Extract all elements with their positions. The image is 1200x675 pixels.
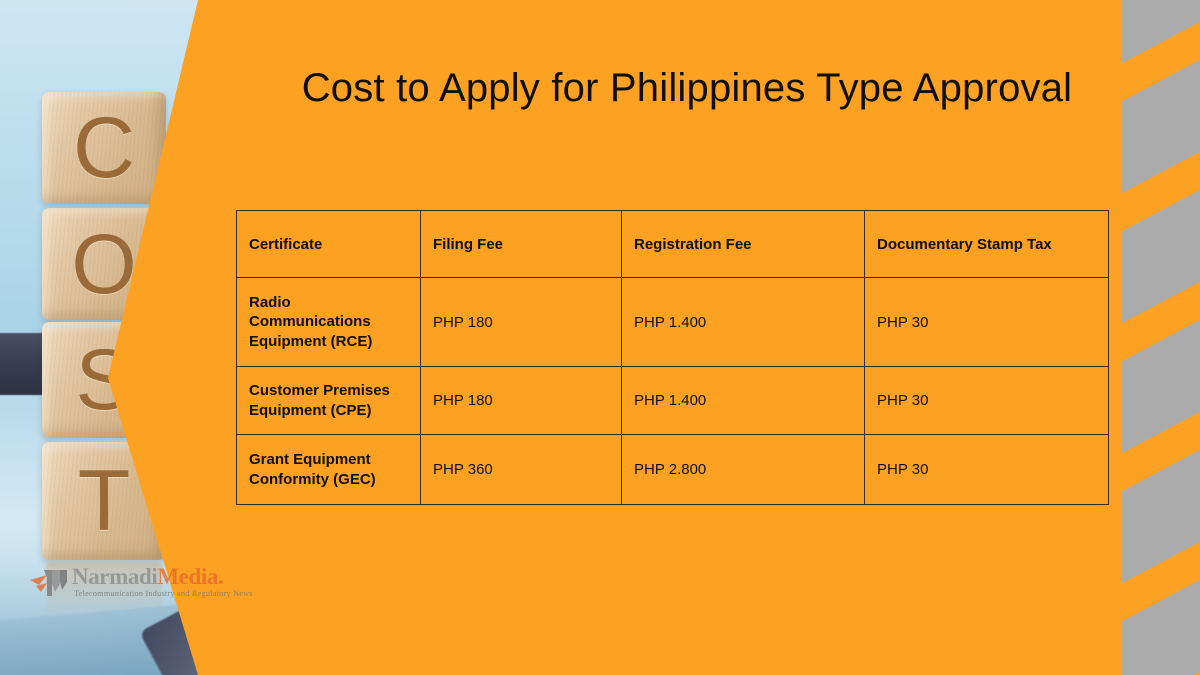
narmadi-logo-icon [30, 566, 70, 598]
cell-certificate: Grant Equipment Conformity (GEC) [237, 435, 421, 505]
watermark-brand-primary: Narmadi [72, 564, 157, 589]
table-row: Customer Premises Equipment (CPE) PHP 18… [237, 367, 1109, 435]
page-title: Cost to Apply for Philippines Type Appro… [272, 60, 1102, 117]
cell-filing-fee: PHP 360 [421, 435, 622, 505]
cell-documentary-stamp-tax: PHP 30 [865, 278, 1109, 367]
column-header-registration-fee: Registration Fee [622, 211, 865, 278]
cell-filing-fee: PHP 180 [421, 367, 622, 435]
cell-registration-fee: PHP 1.400 [622, 278, 865, 367]
cell-registration-fee: PHP 2.800 [622, 435, 865, 505]
table-row: Grant Equipment Conformity (GEC) PHP 360… [237, 435, 1109, 505]
fee-table: Certificate Filing Fee Registration Fee … [236, 210, 1109, 505]
watermark: NarmadiMedia. Telecommunication Industry… [30, 560, 240, 606]
cell-documentary-stamp-tax: PHP 30 [865, 367, 1109, 435]
watermark-tagline: Telecommunication Industry and Regulator… [74, 589, 253, 598]
block-letter-t: T [78, 458, 131, 544]
slide-canvas: C O S T Cost to Apply for Philippines Ty… [0, 0, 1200, 675]
block-letter-o: O [71, 222, 136, 306]
wooden-block-c: C [42, 92, 166, 204]
table-header-row: Certificate Filing Fee Registration Fee … [237, 211, 1109, 278]
cell-filing-fee: PHP 180 [421, 278, 622, 367]
column-header-documentary-stamp-tax: Documentary Stamp Tax [865, 211, 1109, 278]
cell-documentary-stamp-tax: PHP 30 [865, 435, 1109, 505]
watermark-brand: NarmadiMedia. [72, 564, 223, 590]
cell-registration-fee: PHP 1.400 [622, 367, 865, 435]
cell-certificate: Radio Communications Equipment (RCE) [237, 278, 421, 367]
block-letter-c: C [73, 105, 135, 191]
table-row: Radio Communications Equipment (RCE) PHP… [237, 278, 1109, 367]
cell-certificate: Customer Premises Equipment (CPE) [237, 367, 421, 435]
column-header-certificate: Certificate [237, 211, 421, 278]
diagonal-stripe-band [1122, 0, 1200, 675]
watermark-brand-accent: Media. [157, 564, 223, 589]
column-header-filing-fee: Filing Fee [421, 211, 622, 278]
